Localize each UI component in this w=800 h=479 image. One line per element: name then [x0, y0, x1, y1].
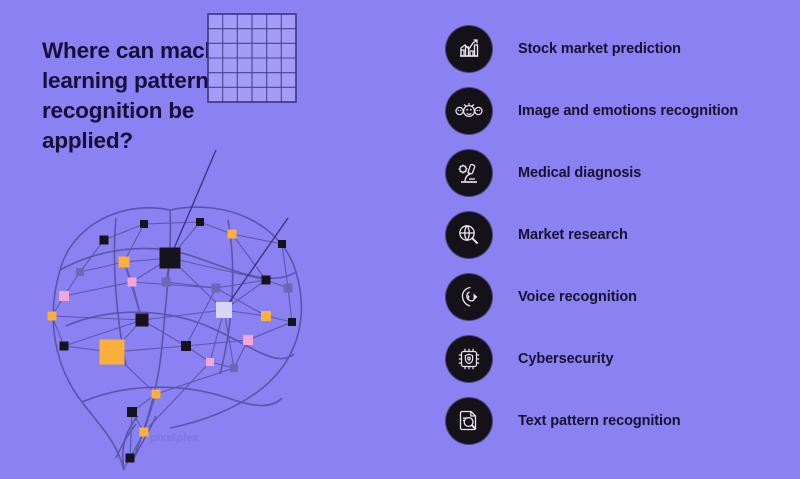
brain-node: [196, 218, 204, 226]
brain-node: [288, 318, 296, 326]
brain-node: [152, 390, 161, 399]
brain-node: [262, 276, 271, 285]
list-item[interactable]: Stock market prediction: [446, 26, 786, 72]
brain-node: [140, 428, 149, 437]
applications-list: Stock market prediction Image: [446, 26, 786, 460]
brain-node: [206, 358, 214, 366]
list-item-label: Stock market prediction: [518, 41, 681, 57]
infographic-canvas: Where can machine learning pattern recog…: [0, 0, 800, 479]
list-item-label: Market research: [518, 227, 628, 243]
voice-soundwave-icon: [446, 274, 492, 320]
brain-node: [278, 240, 286, 248]
brain-node: [100, 236, 109, 245]
list-item-label: Voice recognition: [518, 289, 637, 305]
brain-node: [128, 278, 137, 287]
brain-node: [160, 248, 181, 269]
brain-node: [284, 284, 293, 293]
magnifier-globe-icon: [446, 212, 492, 258]
list-item[interactable]: Cybersecurity: [446, 336, 786, 382]
brain-node: [230, 364, 238, 372]
brain-node: [119, 257, 130, 268]
brain-node: [76, 268, 84, 276]
brain-node: [212, 284, 221, 293]
list-item[interactable]: Text pattern recognition: [446, 398, 786, 444]
brain-node: [100, 340, 125, 365]
pixel-grid-callout: [206, 12, 298, 104]
brain-node: [48, 312, 57, 321]
list-item-label: Text pattern recognition: [518, 413, 680, 429]
brain-node: [228, 230, 237, 239]
brain-node: [126, 454, 135, 463]
list-item[interactable]: Image and emotions recognition: [446, 88, 786, 134]
list-item-label: Image and emotions recognition: [518, 103, 738, 119]
brain-node: [59, 291, 69, 301]
list-item-label: Medical diagnosis: [518, 165, 641, 181]
chip-shield-icon: [446, 336, 492, 382]
brain-node: [181, 341, 191, 351]
brain-node: [162, 278, 171, 287]
faces-emotions-icon: [446, 88, 492, 134]
list-item-label: Cybersecurity: [518, 351, 613, 367]
brain-node: [243, 335, 253, 345]
brain-node: [60, 342, 69, 351]
list-item[interactable]: Medical diagnosis: [446, 150, 786, 196]
brain-node: [216, 302, 232, 318]
watermark-logo: pixelplex: [150, 432, 199, 444]
microscope-icon: [446, 150, 492, 196]
document-magnifier-icon: [446, 398, 492, 444]
stock-chart-icon: [446, 26, 492, 72]
brain-node: [261, 311, 271, 321]
list-item[interactable]: Market research: [446, 212, 786, 258]
list-item[interactable]: Voice recognition: [446, 274, 786, 320]
brain-node: [127, 407, 137, 417]
brain-outline-curves: [53, 207, 301, 470]
brain-node: [136, 314, 149, 327]
brain-node: [140, 220, 148, 228]
neural-network-brain-illustration: [20, 140, 330, 470]
